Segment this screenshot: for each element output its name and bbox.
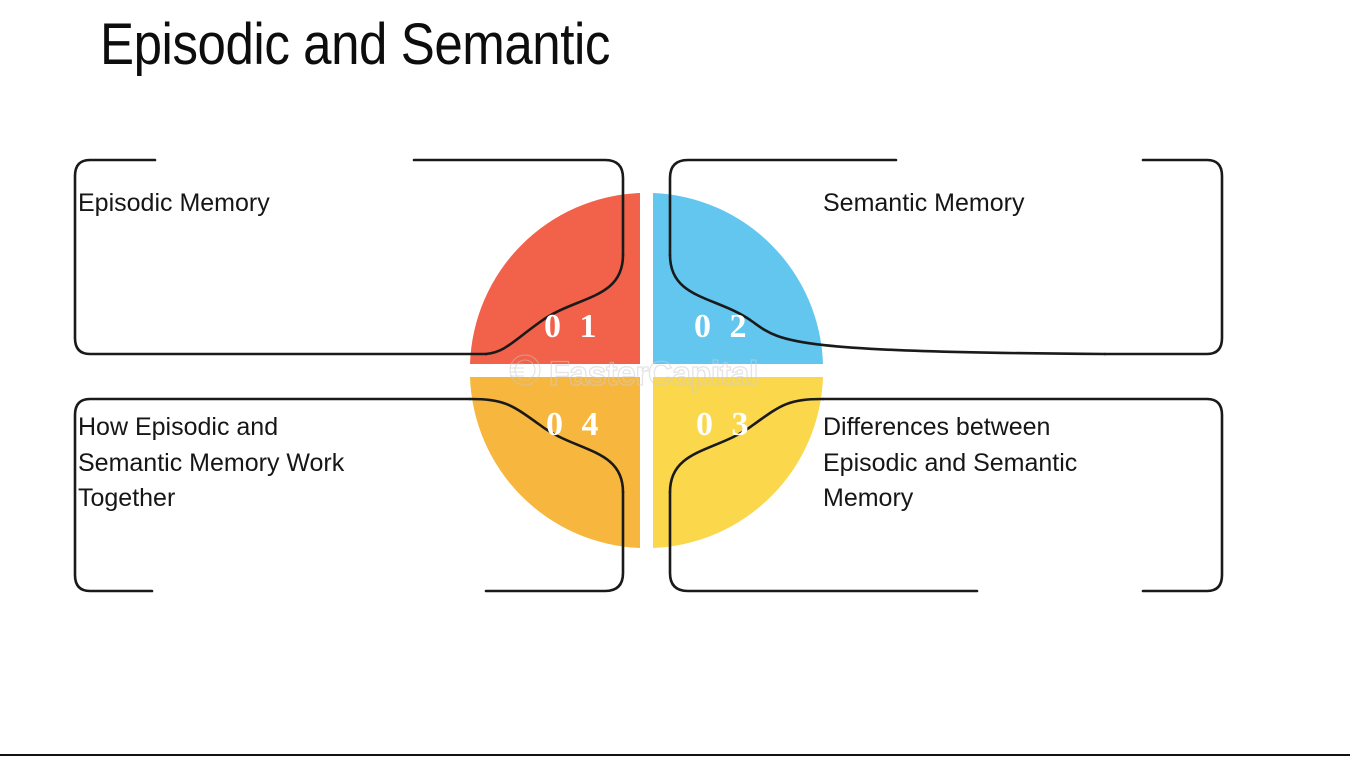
callout-label-how-they-work-together: How Episodic and Semantic Memory Work To…	[78, 410, 468, 517]
quadrant-number-04: 0 4	[546, 408, 604, 442]
callout-label-differences: Differences between Episodic and Semanti…	[823, 410, 1193, 517]
bottom-divider	[0, 754, 1350, 756]
quadrant-number-02: 0 2	[694, 310, 752, 344]
quadrant-wedge-03[interactable]	[653, 377, 823, 548]
quadrant-number-01: 0 1	[544, 310, 602, 344]
quadrant-wedge-04[interactable]	[470, 377, 640, 548]
callout-label-semantic-memory: Semantic Memory	[823, 186, 1213, 222]
quadrant-diagram	[0, 0, 1350, 759]
callout-label-episodic-memory: Episodic Memory	[78, 186, 458, 222]
slide-canvas: Episodic and Semantic	[0, 0, 1350, 759]
quadrant-number-03: 0 3	[696, 408, 754, 442]
